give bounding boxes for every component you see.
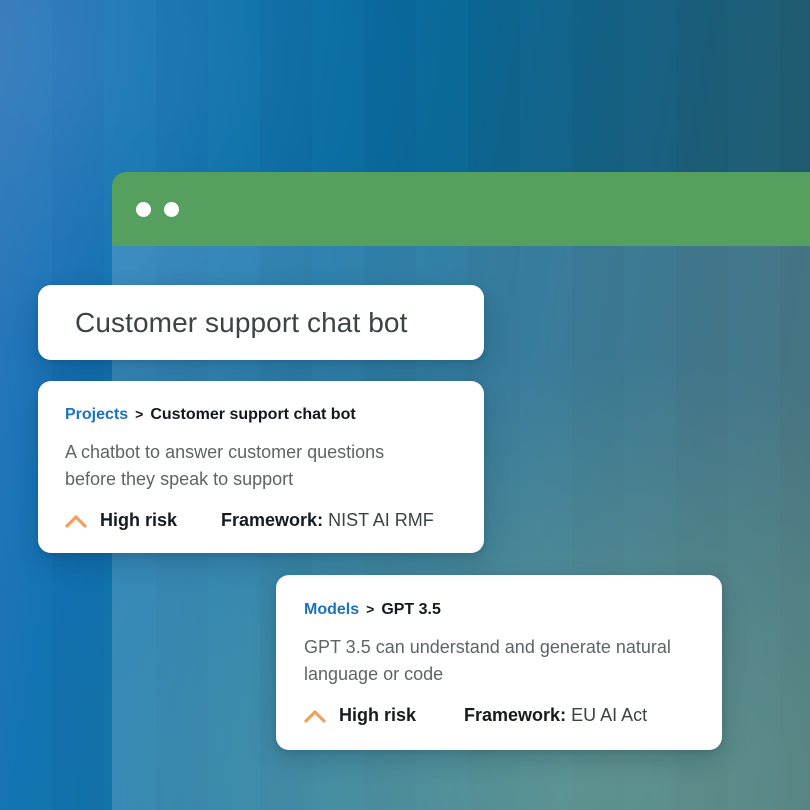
breadcrumb-current: Customer support chat bot <box>150 405 355 424</box>
breadcrumb-separator-icon: > <box>366 601 374 618</box>
breadcrumb-separator-icon: > <box>135 406 143 423</box>
risk-badge: High risk <box>65 510 177 531</box>
risk-label: High risk <box>100 510 177 531</box>
model-meta-row: High risk Framework: EU AI Act <box>304 705 694 726</box>
project-title-card[interactable]: Customer support chat bot <box>38 285 484 360</box>
project-description: A chatbot to answer customer questions b… <box>65 439 440 492</box>
window-dot-1-icon[interactable] <box>136 202 151 217</box>
breadcrumb: Projects > Customer support chat bot <box>65 405 456 424</box>
framework-label: Framework: <box>221 510 323 530</box>
breadcrumb-current: GPT 3.5 <box>381 600 441 619</box>
chevron-up-icon <box>65 514 87 528</box>
framework-label: Framework: <box>464 705 566 725</box>
framework-value: NIST AI RMF <box>328 510 434 530</box>
breadcrumb: Models > GPT 3.5 <box>304 600 694 619</box>
window-dot-2-icon[interactable] <box>164 202 179 217</box>
framework-info: Framework: EU AI Act <box>464 705 647 726</box>
framework-value: EU AI Act <box>571 705 647 725</box>
model-card[interactable]: Models > GPT 3.5 GPT 3.5 can understand … <box>276 575 722 750</box>
chevron-up-icon <box>304 709 326 723</box>
project-card[interactable]: Projects > Customer support chat bot A c… <box>38 381 484 553</box>
framework-info: Framework: NIST AI RMF <box>221 510 434 531</box>
window-titlebar <box>112 172 810 246</box>
risk-badge: High risk <box>304 705 416 726</box>
project-meta-row: High risk Framework: NIST AI RMF <box>65 510 456 531</box>
model-description: GPT 3.5 can understand and generate natu… <box>304 634 679 687</box>
page-title: Customer support chat bot <box>38 307 407 339</box>
breadcrumb-parent-link[interactable]: Models <box>304 600 359 619</box>
risk-label: High risk <box>339 705 416 726</box>
breadcrumb-parent-link[interactable]: Projects <box>65 405 128 424</box>
screenshot-stage: Customer support chat bot Projects > Cus… <box>0 0 810 810</box>
